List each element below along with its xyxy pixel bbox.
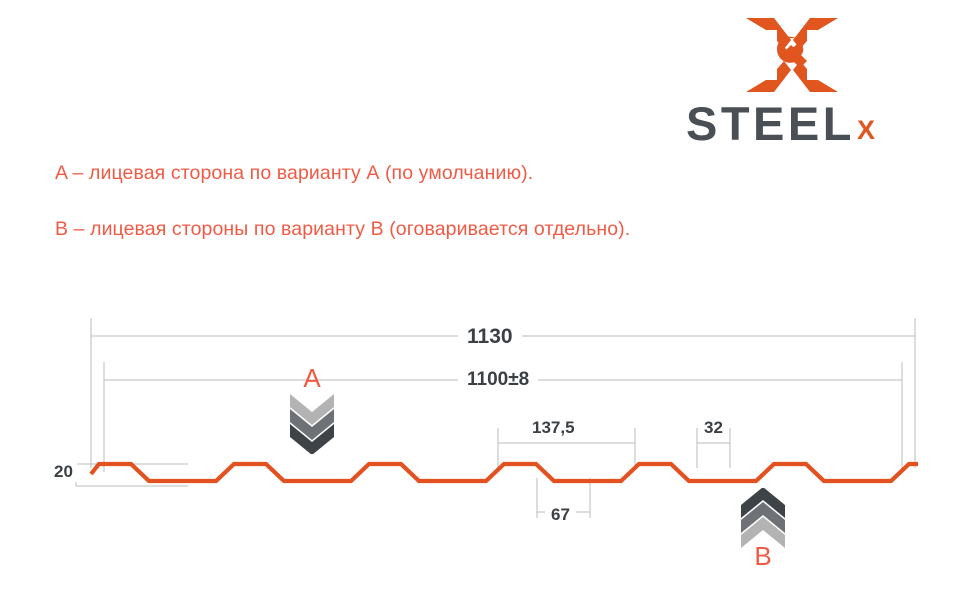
dimension-label-wave-pitch: 137,5	[525, 418, 582, 438]
dimension-label-valley-flat: 67	[545, 505, 576, 525]
dimension-label-overall-width: 1130	[458, 325, 522, 349]
marker-a-chevrons-down-icon	[287, 392, 337, 454]
dimension-label-crest-flat: 32	[699, 418, 728, 438]
dimension-label-profile-height: 20	[50, 462, 77, 482]
trapezoidal-profile-path	[91, 464, 918, 481]
marker-b-chevrons-up-icon	[738, 488, 788, 550]
dimension-label-useful-width: 1100±8	[458, 369, 538, 391]
profile-technical-drawing	[0, 0, 970, 597]
marker-a-letter: A	[292, 363, 332, 394]
